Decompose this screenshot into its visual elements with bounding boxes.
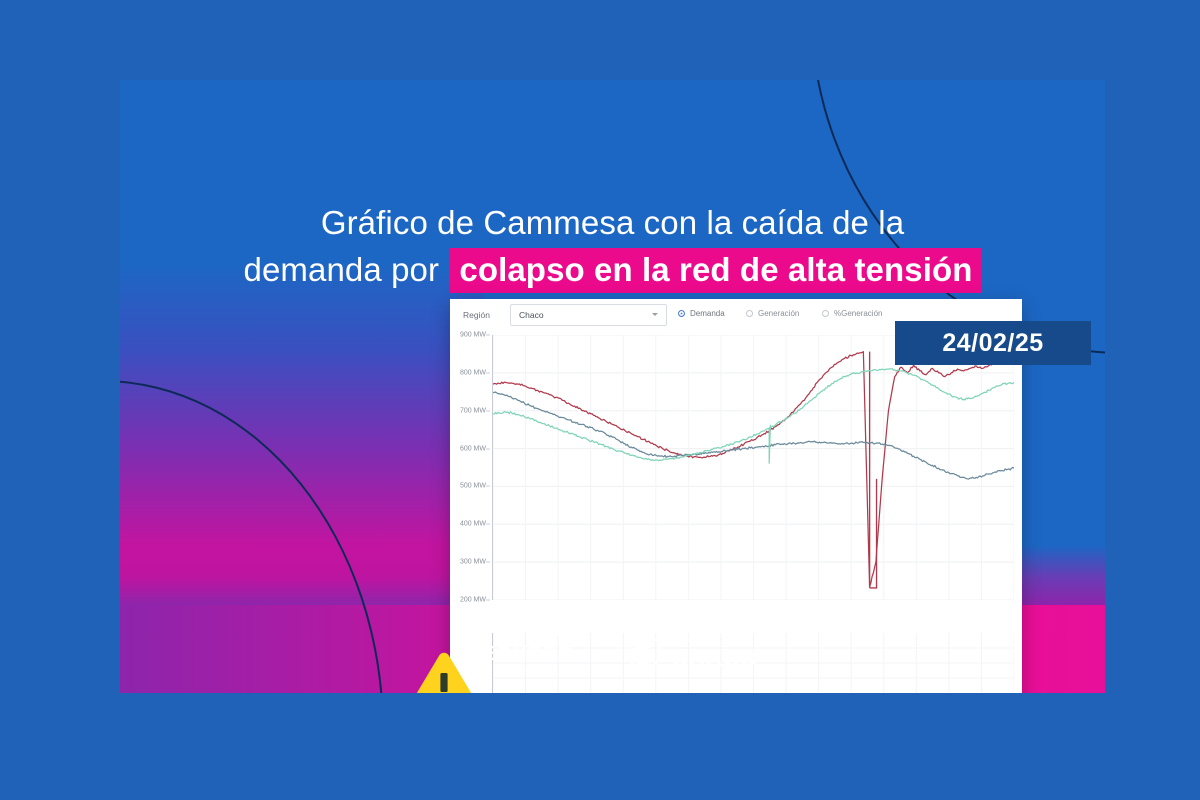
chaco-eyebrow: Gobierno del: [671, 636, 758, 644]
radio-label-demanda: Demanda: [690, 309, 725, 318]
y-axis-tick-label: 400 MW: [460, 521, 486, 528]
plot-wrapper: 900 MW800 MW700 MW600 MW500 MW400 MW300 …: [450, 335, 1022, 635]
region-select-value: Chaco: [519, 310, 544, 320]
headline-line-1: Gráfico de Cammesa con la caída de la: [321, 204, 904, 241]
radio-porcentaje-generacion[interactable]: %Generación: [822, 309, 882, 318]
poster-card: Gráfico de Cammesa con la caída de la de…: [120, 80, 1105, 693]
plot-area[interactable]: [492, 335, 1014, 600]
gobierno-chaco-logo: Gobierno del CHACO: [626, 634, 758, 672]
chevron-down-icon: [652, 313, 658, 316]
y-axis-tick-mark: [486, 335, 490, 336]
radio-dot-porcentaje-generacion: [822, 310, 829, 317]
chaco-text: Gobierno del CHACO: [671, 636, 758, 670]
y-axis-tick-mark: [486, 600, 490, 601]
chaco-shield-icon: [626, 634, 662, 672]
secheep-logo: SECHEEP Energía del Chaco: [466, 631, 573, 676]
radio-label-generacion: Generación: [758, 309, 799, 318]
headline-line-2: demanda por colapso en la red de alta te…: [120, 249, 1105, 292]
secheep-roof-icon: [535, 630, 565, 644]
y-axis-tick-label: 900 MW: [460, 332, 486, 339]
logo-divider: [599, 636, 600, 670]
demand-line-chart: [493, 335, 1014, 600]
headline-highlight: colapso en la red de alta tensión: [450, 248, 981, 293]
y-axis-tick-label: 600 MW: [460, 445, 486, 452]
y-axis-tick-mark: [486, 448, 490, 449]
secheep-name: SECHEEP: [466, 644, 573, 664]
y-axis-tick-label: 800 MW: [460, 369, 486, 376]
y-axis-tick-mark: [486, 524, 490, 525]
date-badge: 24/02/25: [895, 321, 1091, 365]
y-axis-tick-mark: [486, 372, 490, 373]
radio-demanda[interactable]: Demanda: [678, 309, 725, 318]
y-axis-tick-mark: [486, 410, 490, 411]
y-axis-tick-label: 300 MW: [460, 559, 486, 566]
radio-dot-demanda: [678, 310, 685, 317]
y-axis-tick-label: 700 MW: [460, 407, 486, 414]
footer-logos: SECHEEP Energía del Chaco Gobierno del C…: [120, 627, 1105, 679]
region-select[interactable]: Chaco: [510, 304, 667, 326]
secheep-tagline: Energía del Chaco: [482, 668, 558, 676]
chaco-name: CHACO: [671, 647, 758, 670]
y-axis-tick-label: 200 MW: [460, 597, 486, 604]
region-label: Región: [463, 310, 490, 320]
radio-dot-generacion: [746, 310, 753, 317]
radio-label-porcentaje-generacion: %Generación: [834, 309, 882, 318]
radio-generacion[interactable]: Generación: [746, 309, 799, 318]
y-axis: 900 MW800 MW700 MW600 MW500 MW400 MW300 …: [450, 335, 492, 635]
y-axis-tick-mark: [486, 486, 490, 487]
y-axis-tick-label: 500 MW: [460, 483, 486, 490]
y-axis-tick-mark: [486, 562, 490, 563]
page-title: Gráfico de Cammesa con la caída de la de…: [120, 202, 1105, 292]
poster-stage: Gráfico de Cammesa con la caída de la de…: [0, 0, 1200, 800]
headline-line-2-plain: demanda por: [244, 251, 440, 288]
